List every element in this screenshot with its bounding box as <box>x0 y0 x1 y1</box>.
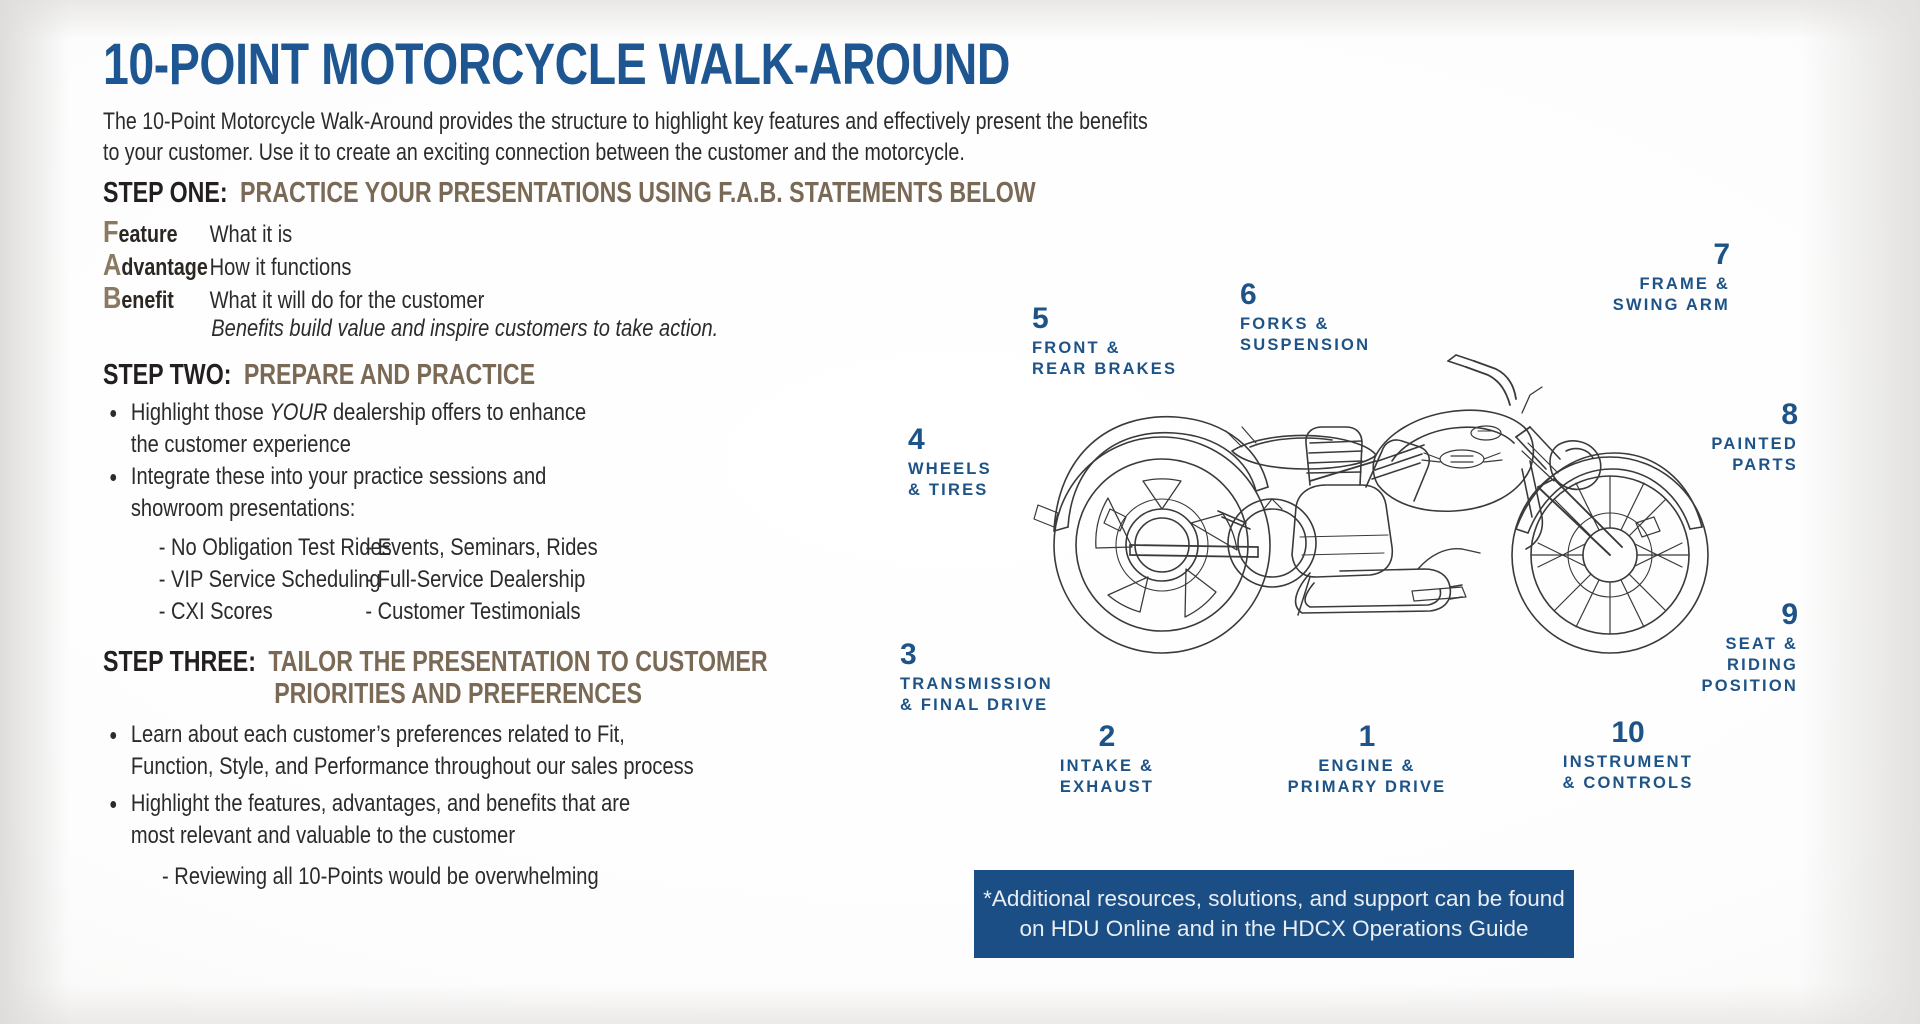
callout-6: 6 FORKS & SUSPENSION <box>1240 280 1370 356</box>
fab-definition: What it will do for the customer <box>210 287 485 315</box>
banner-line-1: *Additional resources, solutions, and su… <box>983 884 1565 914</box>
callout-number: 9 <box>1678 600 1798 630</box>
offerings-two-column-list: - No Obligation Test Rides - VIP Service… <box>103 532 923 628</box>
offering-item: - VIP Service Scheduling <box>159 564 366 596</box>
bullet-line-1: Integrate these into your practice sessi… <box>131 461 874 493</box>
bullet-emphasis: YOUR <box>269 399 327 426</box>
fab-term-rest: eature <box>119 221 178 248</box>
list-item: Learn about each customer’s preferences … <box>103 719 874 782</box>
callout-5: 5 FRONT & REAR BRAKES <box>1032 304 1177 380</box>
callout-1: 1 ENGINE & PRIMARY DRIVE <box>1272 722 1462 798</box>
offering-item: - Customer Testimonials <box>365 596 597 628</box>
callout-number: 7 <box>1596 240 1730 270</box>
offering-item: - CXI Scores <box>159 596 366 628</box>
fab-definition: How it functions <box>210 254 352 282</box>
bullet-line-1: Highlight the features, advantages, and … <box>131 788 874 820</box>
callout-number: 3 <box>900 640 1053 670</box>
fab-term: Advantage <box>103 247 210 283</box>
bullet-text-post: dealership offers to enhance <box>327 399 586 426</box>
callout-number: 8 <box>1700 400 1798 430</box>
callout-line: PAINTED <box>1700 434 1798 455</box>
callout-line: EXHAUST <box>1048 777 1166 798</box>
callout-line: & CONTROLS <box>1538 773 1718 794</box>
step-one-heading: STEP ONE: PRACTICE YOUR PRESENTATIONS US… <box>103 177 903 210</box>
callout-line: REAR BRAKES <box>1032 359 1177 380</box>
callout-line: INTAKE & <box>1048 756 1166 777</box>
list-item: Highlight those YOUR dealership offers t… <box>103 397 874 460</box>
bullet-line-1: Highlight those YOUR dealership offers t… <box>131 397 874 429</box>
callout-line: & FINAL DRIVE <box>900 695 1053 716</box>
step-three-title-line-1: TAILOR THE PRESENTATION TO CUSTOMER <box>268 646 767 678</box>
fab-term: Feature <box>103 214 210 250</box>
callout-number: 10 <box>1538 718 1718 748</box>
resources-banner: *Additional resources, solutions, and su… <box>974 870 1574 958</box>
edge-shading-right <box>1800 0 1920 1024</box>
callout-line: FRONT & <box>1032 338 1177 359</box>
intro-line-1: The 10-Point Motorcycle Walk-Around prov… <box>103 106 1399 137</box>
fab-term: Benefit <box>103 280 210 316</box>
step-two-title: PREPARE AND PRACTICE <box>244 359 535 391</box>
callout-line: INSTRUMENT <box>1538 752 1718 773</box>
fab-definition-list: Feature What it is Advantage How it func… <box>103 214 873 343</box>
fab-term-rest: dvantage <box>121 254 207 281</box>
content-column: 10-POINT MOTORCYCLE WALK-AROUND The 10-P… <box>103 34 873 892</box>
banner-line-2: on HDU Online and in the HDCX Operations… <box>1019 914 1528 944</box>
offering-item: - No Obligation Test Rides <box>159 532 366 564</box>
intro-paragraph: The 10-Point Motorcycle Walk-Around prov… <box>103 106 1399 168</box>
callout-3: 3 TRANSMISSION & FINAL DRIVE <box>900 640 1053 716</box>
step-three-heading: STEP THREE: TAILOR THE PRESENTATION TO C… <box>103 646 903 710</box>
bullet-line-2: showroom presentations: <box>131 493 874 525</box>
callout-line: WHEELS <box>908 459 992 480</box>
callout-line: POSITION <box>1678 676 1798 697</box>
callout-line: FORKS & <box>1240 314 1370 335</box>
callout-line: TRANSMISSION <box>900 674 1053 695</box>
callout-9: 9 SEAT & RIDING POSITION <box>1678 600 1798 697</box>
step-three-label: STEP THREE: <box>103 646 256 678</box>
fab-row: Advantage How it functions <box>103 247 874 280</box>
bullet-line-2: the customer experience <box>131 429 874 461</box>
callout-line: SEAT & <box>1678 634 1798 655</box>
list-item: Highlight the features, advantages, and … <box>103 788 874 851</box>
callout-number: 6 <box>1240 280 1370 310</box>
callout-line: RIDING <box>1678 655 1798 676</box>
step-two-label: STEP TWO: <box>103 359 231 391</box>
callout-7: 7 FRAME & SWING ARM <box>1596 240 1730 316</box>
fab-initial: F <box>103 214 119 249</box>
callout-10: 10 INSTRUMENT & CONTROLS <box>1538 718 1718 794</box>
callout-4: 4 WHEELS & TIRES <box>908 425 992 501</box>
step-one-title: PRACTICE YOUR PRESENTATIONS USING F.A.B.… <box>240 177 1036 209</box>
callout-number: 5 <box>1032 304 1177 334</box>
callout-line: SWING ARM <box>1596 295 1730 316</box>
bullet-line-1: Learn about each customer’s preferences … <box>131 719 874 751</box>
fab-term-rest: enefit <box>121 287 173 314</box>
step-three-bullet-list: Learn about each customer’s preferences … <box>103 719 873 851</box>
callout-8: 8 PAINTED PARTS <box>1700 400 1798 476</box>
callout-line: SUSPENSION <box>1240 335 1370 356</box>
callout-line: PRIMARY DRIVE <box>1272 777 1462 798</box>
edge-shading-bottom <box>0 984 1920 1024</box>
offerings-column-left: - No Obligation Test Rides - VIP Service… <box>103 532 365 628</box>
callout-line: ENGINE & <box>1272 756 1462 777</box>
fab-definition: What it is <box>210 221 293 249</box>
step-three-title-line-2: PRIORITIES AND PREFERENCES <box>103 679 903 710</box>
callout-number: 4 <box>908 425 992 455</box>
fab-initial: A <box>103 247 121 282</box>
step-one-label: STEP ONE: <box>103 177 228 209</box>
offering-item: - Events, Seminars, Rides <box>365 532 597 564</box>
fab-initial: B <box>103 280 121 315</box>
fab-row: Benefit What it will do for the customer <box>103 280 874 313</box>
bullet-line-2: most relevant and valuable to the custom… <box>131 820 874 852</box>
fab-row: Feature What it is <box>103 214 874 247</box>
step-two-bullet-list: Highlight those YOUR dealership offers t… <box>103 397 873 524</box>
infographic-page: 10-POINT MOTORCYCLE WALK-AROUND The 10-P… <box>0 0 1920 1024</box>
intro-line-2: to your customer. Use it to create an ex… <box>103 137 1399 168</box>
offering-item: - Full-Service Dealership <box>365 564 597 596</box>
fab-note: Benefits build value and inspire custome… <box>103 315 874 343</box>
step-two-heading: STEP TWO: PREPARE AND PRACTICE <box>103 359 903 392</box>
callout-number: 1 <box>1272 722 1462 752</box>
offerings-column-right: - Events, Seminars, Rides - Full-Service… <box>365 532 597 628</box>
callout-2: 2 INTAKE & EXHAUST <box>1048 722 1166 798</box>
callout-line: FRAME & <box>1596 274 1730 295</box>
callout-number: 2 <box>1048 722 1166 752</box>
list-item: Integrate these into your practice sessi… <box>103 461 874 524</box>
callout-line: PARTS <box>1700 455 1798 476</box>
bullet-text-pre: Highlight those <box>131 399 269 426</box>
page-title: 10-POINT MOTORCYCLE WALK-AROUND <box>103 34 719 96</box>
step-three-sub-note: - Reviewing all 10-Points would be overw… <box>103 861 874 892</box>
bullet-line-2: Function, Style, and Performance through… <box>131 751 874 783</box>
callout-line: & TIRES <box>908 480 992 501</box>
edge-shading-left <box>0 0 70 1024</box>
